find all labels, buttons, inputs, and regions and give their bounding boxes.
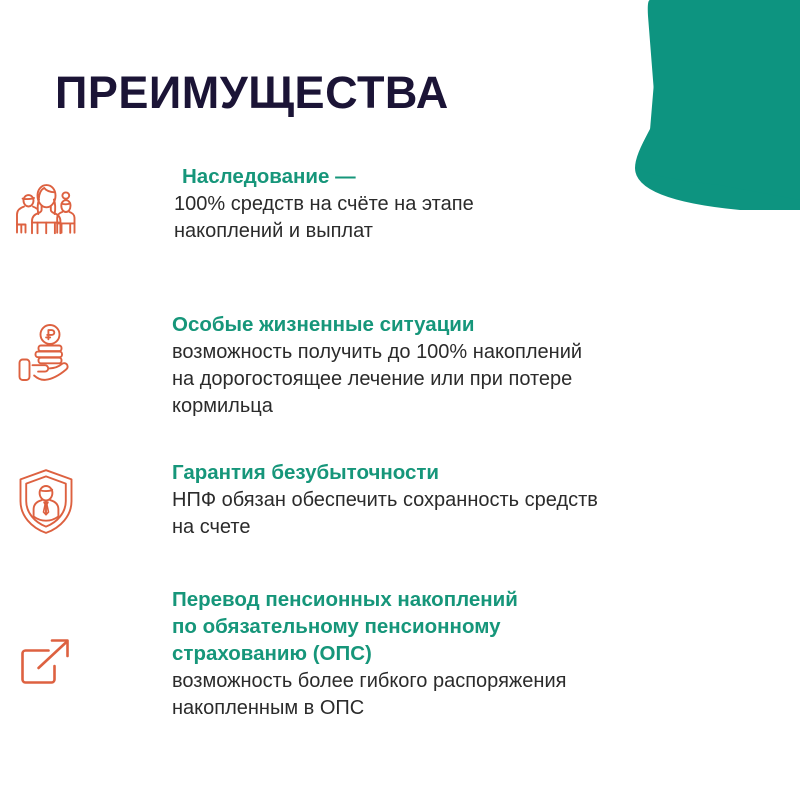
benefit-item: Перевод пенсионных накоплений по обязате… <box>0 586 800 722</box>
benefit-item: Особые жизненные ситуации возможность по… <box>0 311 800 420</box>
benefit-item: Гарантия безубыточности НПФ обязан обесп… <box>0 459 800 541</box>
benefit-text: возможность более гибкого распоряжения н… <box>172 668 800 722</box>
page-title: ПРЕИМУЩЕСТВА <box>55 68 449 118</box>
hand-with-ruble-coins-icon <box>0 311 92 389</box>
benefit-heading: Особые жизненные ситуации <box>172 311 800 338</box>
benefit-content: Особые жизненные ситуации возможность по… <box>92 311 800 420</box>
benefit-text: НПФ обязан обеспечить сохранность средст… <box>172 487 800 541</box>
benefit-content: Перевод пенсионных накоплений по обязате… <box>92 586 800 722</box>
benefit-content: Наследование — 100% средств на счёте на … <box>92 163 800 245</box>
benefit-item: Наследование — 100% средств на счёте на … <box>0 163 800 245</box>
benefit-heading: Гарантия безубыточности <box>172 459 800 486</box>
benefit-content: Гарантия безубыточности НПФ обязан обесп… <box>92 459 800 541</box>
benefit-text: 100% средств на счёте на этапе накоплени… <box>174 191 800 245</box>
benefit-heading: Наследование — <box>182 163 800 190</box>
benefit-heading: Перевод пенсионных накоплений по обязате… <box>172 586 800 667</box>
family-group-icon <box>0 163 92 239</box>
shield-with-person-icon <box>0 459 92 537</box>
export-arrow-icon <box>0 586 92 694</box>
benefit-text: возможность получить до 100% накоплений … <box>172 339 800 420</box>
